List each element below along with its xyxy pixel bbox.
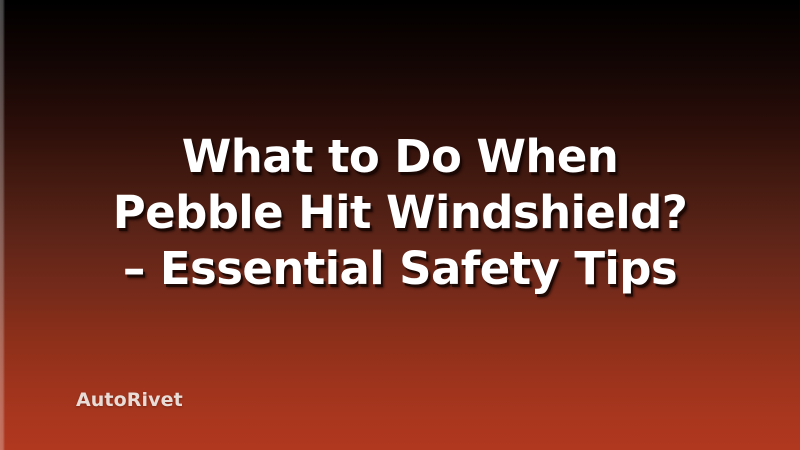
page-title: What to Do When Pebble Hit Windshield? –… <box>0 129 800 297</box>
title-line-3: – Essential Safety Tips <box>28 241 772 297</box>
title-card-banner: What to Do When Pebble Hit Windshield? –… <box>0 0 800 450</box>
brand-logo[interactable]: AutoRivet <box>76 389 183 411</box>
title-line-1: What to Do When <box>28 129 772 185</box>
title-line-2: Pebble Hit Windshield? <box>28 185 772 241</box>
